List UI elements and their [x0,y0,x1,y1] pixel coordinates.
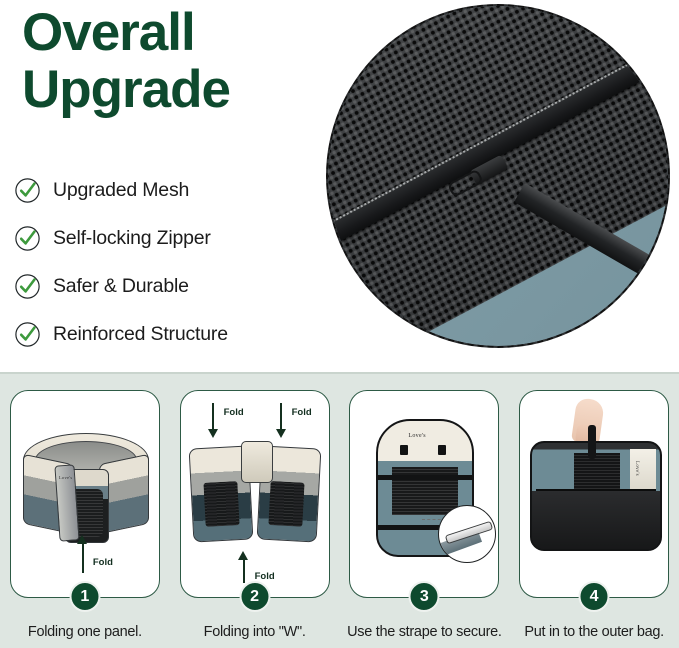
outer-carry-bag: Love's [530,441,662,551]
feature-label: Reinforced Structure [53,323,228,346]
zipper-closeup-photo [326,4,670,348]
page-title-line-1: Overall [22,4,322,61]
fold-arrow-stem [82,543,85,573]
brand-logo: Love's [59,475,73,480]
step-caption: Put in to the outer bag. [509,624,679,640]
step-number-badge: 4 [579,581,610,612]
check-circle-icon [14,177,41,204]
step-card: Love's 4 [519,390,669,598]
fold-arrow-stem [280,403,283,431]
brand-logo: Love's [634,461,639,476]
fold-label: Fold [93,557,113,568]
bag-flap [532,491,660,549]
folding-steps-section: Love's Fold 1 Folding one panel. [0,374,679,648]
check-circle-icon [14,321,41,348]
step-card: Love's Fold 1 [10,390,160,598]
step-caption: Use the strape to secure. [340,624,510,640]
step-number-badge: 2 [239,581,270,612]
page-title: Overall Upgrade [22,4,322,118]
photo-content [328,6,668,346]
mesh-window [203,481,239,527]
steps-row: Love's Fold 1 Folding one panel. [0,374,679,648]
hero-section: Overall Upgrade Upgraded Mesh Self-locki… [0,0,679,372]
mesh-window [268,481,304,527]
feature-item: Reinforced Structure [14,310,314,358]
fold-arrow-stem [243,559,246,583]
securing-strap [376,475,474,480]
playpen-w-center [241,441,273,483]
step-caption: Folding into "W". [170,624,340,640]
step-1: Love's Fold 1 Folding one panel. [0,374,170,648]
feature-label: Upgraded Mesh [53,179,189,202]
feature-list: Upgraded Mesh Self-locking Zipper Safer … [14,166,314,358]
brand-logo: Love's [408,433,426,439]
strap-detail-callout [438,505,496,563]
step-2-illustration: Fold Fold Fold [181,391,329,597]
feature-item: Upgraded Mesh [14,166,314,214]
strap-tab [438,445,446,455]
step-3-illustration: Love's [350,391,498,597]
fold-label: Fold [292,407,312,418]
step-2: Fold Fold Fold 2 Folding into "W". [170,374,340,648]
feature-label: Safer & Durable [53,275,189,298]
fold-arrow-stem [212,403,215,431]
fold-arrow-head-up-icon [238,551,248,560]
step-4: Love's 4 Put in to the outer bag. [509,374,679,648]
check-circle-icon [14,225,41,252]
check-circle-icon [14,273,41,300]
step-caption: Folding one panel. [0,624,170,640]
step-4-illustration: Love's [520,391,668,597]
mesh-window [574,453,620,489]
feature-item: Self-locking Zipper [14,214,314,262]
step-number-badge: 3 [409,581,440,612]
playpen-inside-bag: Love's [630,449,656,489]
fold-arrow-head-up-icon [77,535,87,544]
step-1-illustration: Love's Fold [11,391,159,597]
strap-tab [400,445,408,455]
step-card: Fold Fold Fold 2 [180,390,330,598]
feature-label: Self-locking Zipper [53,227,211,250]
page-title-line-2: Upgrade [22,61,322,118]
step-number-badge: 1 [69,581,100,612]
step-3: Love's 3 Use the strape to secure. [340,374,510,648]
feature-item: Safer & Durable [14,262,314,310]
fold-label: Fold [224,407,244,418]
step-card: Love's 3 [349,390,499,598]
bag-handle [588,425,596,459]
